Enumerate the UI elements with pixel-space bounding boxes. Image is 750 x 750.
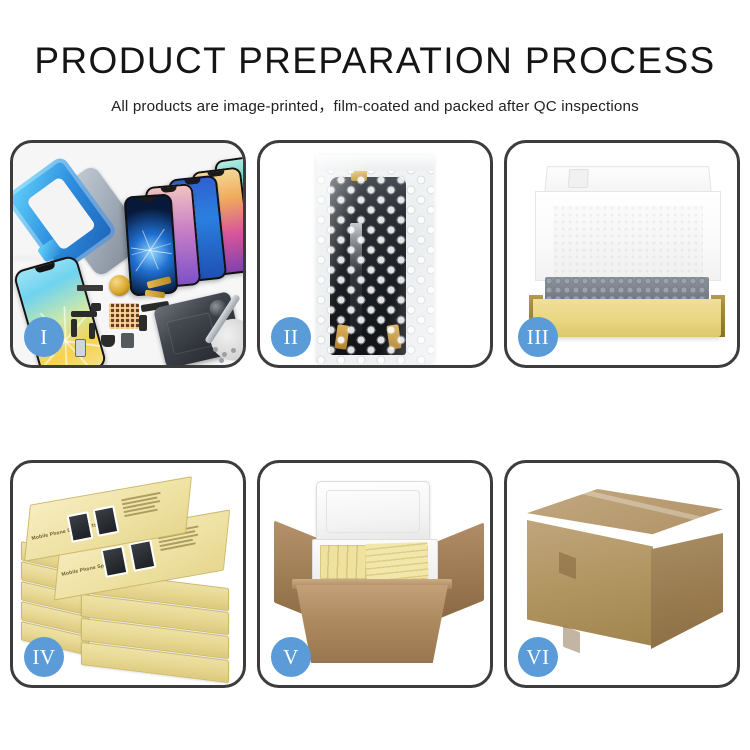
box-front-panel — [533, 299, 721, 337]
speaker-module-icon — [109, 275, 130, 296]
flex-cable-icon — [71, 319, 77, 337]
header: PRODUCT PREPARATION PROCESS All products… — [0, 0, 750, 116]
step-badge-6: VI — [518, 637, 558, 677]
page-title: PRODUCT PREPARATION PROCESS — [0, 0, 750, 81]
carton-left-face — [527, 520, 653, 646]
screws-icon — [213, 347, 239, 363]
phone-screen-fan — [125, 155, 243, 281]
step-badge-2: II — [271, 317, 311, 357]
flex-cable-icon — [89, 323, 95, 339]
flex-cable-icon — [71, 311, 97, 317]
process-step-panel-3: III — [504, 140, 740, 368]
process-step-panel-6: VI — [504, 460, 740, 688]
process-step-panel-2: II — [257, 140, 493, 368]
chip-array-icon — [109, 303, 139, 329]
vibrator-part-icon — [101, 335, 115, 347]
step-badge-1: I — [24, 317, 64, 357]
step-badge-3: III — [518, 317, 558, 357]
carton-front-wall — [296, 585, 448, 663]
process-step-panel-5: V — [257, 460, 493, 688]
step-badge-4: IV — [24, 637, 64, 677]
button-part-icon — [91, 303, 101, 311]
step-badge-5: V — [271, 637, 311, 677]
process-step-panel-1: I — [10, 140, 246, 368]
plastic-sheen — [316, 155, 434, 363]
page-subtitle: All products are image-printed，film-coat… — [0, 81, 750, 116]
packed-boxes-icon — [365, 542, 428, 580]
bubble-wrap-sleeve-icon — [316, 155, 434, 363]
product-preparation-infographic: PRODUCT PREPARATION PROCESS All products… — [0, 0, 750, 750]
flex-cable-icon — [139, 315, 147, 331]
battery-part-icon — [75, 339, 86, 357]
sealed-carton-icon — [527, 489, 723, 665]
connector-part-icon — [77, 285, 103, 291]
process-step-grid: I II — [10, 140, 740, 690]
camera-part-icon — [121, 333, 134, 348]
foam-lid-icon — [316, 481, 430, 543]
carton-right-face — [651, 533, 723, 649]
open-inner-box-icon — [529, 165, 725, 349]
process-step-panel-4: Mobile Phone Spare Parts Mobile Phone Sp… — [10, 460, 246, 688]
foam-sheet-icon — [553, 205, 703, 279]
